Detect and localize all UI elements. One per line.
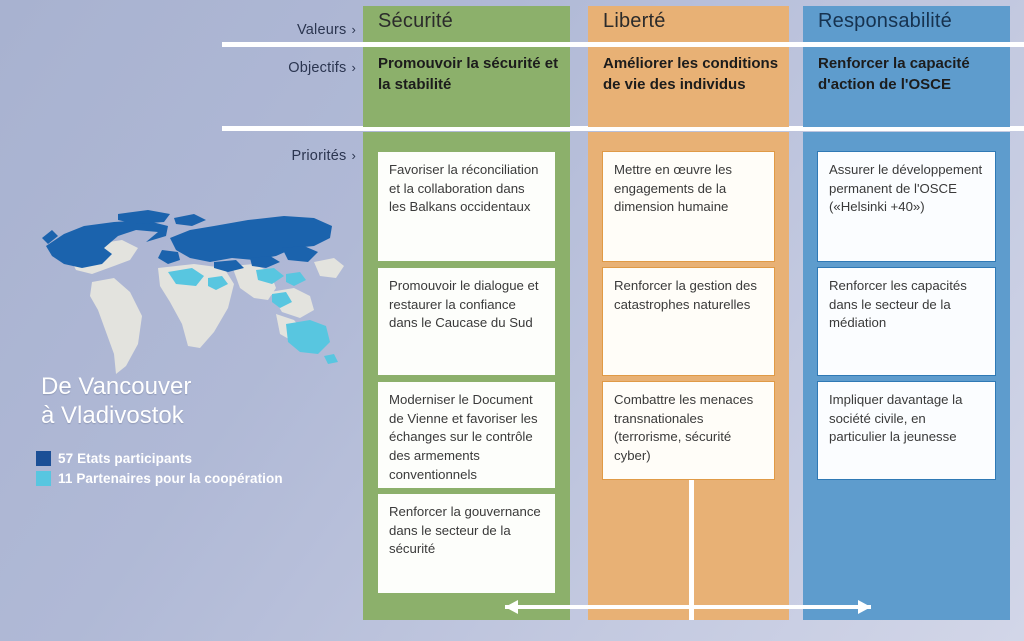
column-security: Sécurité Promouvoir la sécurité et la st… [363,6,570,620]
priority-card: Renforcer la gouvernance dans le secteur… [377,493,556,594]
world-map-icon [18,196,358,381]
priority-card: Favoriser la réconciliation et la collab… [377,151,556,262]
priority-card: Renforcer les capacités dans le secteur … [817,267,996,376]
map-legend: 57 Etats participants 11 Partenaires pou… [36,451,283,491]
value-title-liberty: Liberté [603,10,666,33]
arrow-head-left [505,600,518,614]
chevron-right-icon: › [351,22,356,37]
map-title-line2: à Vladivostok [41,401,191,430]
legend-item-participating-states: 57 Etats participants [36,451,283,466]
legend-label-partners: 11 Partenaires pour la coopération [58,471,283,486]
arrow-head-right [858,600,871,614]
priority-band-responsibility: Assurer le développement permanent de l'… [803,132,1010,620]
priority-band-liberty: Mettre en œuvre les engagements de la di… [588,132,789,620]
objective-band-responsibility: Renforcer la capacité d'action de l'OSCE [803,47,1010,127]
objective-band-security: Promouvoir la sécurité et la stabilité [363,47,570,127]
chevron-right-icon: › [351,60,356,75]
map-block: De Vancouver à Vladivostok 57 Etats part… [18,196,358,496]
priority-card: Impliquer davantage la société civile, e… [817,381,996,480]
priority-band-security: Favoriser la réconciliation et la collab… [363,132,570,620]
map-title-line1: De Vancouver [41,372,191,401]
legend-label-participating-states: 57 Etats participants [58,451,192,466]
objective-title-security: Promouvoir la sécurité et la stabilité [378,53,560,96]
osce-priorities-infographic: Valeurs› Objectifs› Priorités› Sécurité … [0,0,1024,641]
connector-stem [689,480,694,620]
map-title: De Vancouver à Vladivostok [41,372,191,431]
priority-card: Combattre les menaces transnationales (t… [602,381,775,480]
column-responsibility: Responsabilité Renforcer la capacité d'a… [803,6,1010,620]
priority-card: Renforcer la gestion des catastrophes na… [602,267,775,376]
legend-swatch-partners [36,471,51,486]
legend-swatch-participating-states [36,451,51,466]
row-label-priorites: Priorités› [291,148,356,164]
value-title-security: Sécurité [378,10,453,33]
row-label-objectifs: Objectifs› [288,60,356,76]
objective-band-liberty: Améliorer les conditions de vie des indi… [588,47,789,127]
priority-card: Mettre en œuvre les engagements de la di… [602,151,775,262]
row-label-priorites-text: Priorités [291,148,346,164]
priority-card: Promouvoir le dialogue et restaurer la c… [377,267,556,376]
arrow-shaft [505,605,871,609]
row-label-objectifs-text: Objectifs [288,60,346,76]
value-band-liberty: Liberté [588,6,789,42]
priority-card: Moderniser le Document de Vienne et favo… [377,381,556,489]
objective-title-responsibility: Renforcer la capacité d'action de l'OSCE [818,53,1000,96]
chevron-right-icon: › [351,148,356,163]
priority-card: Assurer le développement permanent de l'… [817,151,996,262]
value-band-security: Sécurité [363,6,570,42]
value-band-responsibility: Responsabilité [803,6,1010,42]
value-title-responsibility: Responsabilité [818,10,952,33]
legend-item-partners: 11 Partenaires pour la coopération [36,471,283,486]
column-liberty: Liberté Améliorer les conditions de vie … [588,6,789,620]
row-label-valeurs-text: Valeurs [297,22,347,38]
objective-title-liberty: Améliorer les conditions de vie des indi… [603,53,779,96]
row-label-valeurs: Valeurs› [297,22,356,38]
double-headed-arrow-icon [505,600,871,614]
